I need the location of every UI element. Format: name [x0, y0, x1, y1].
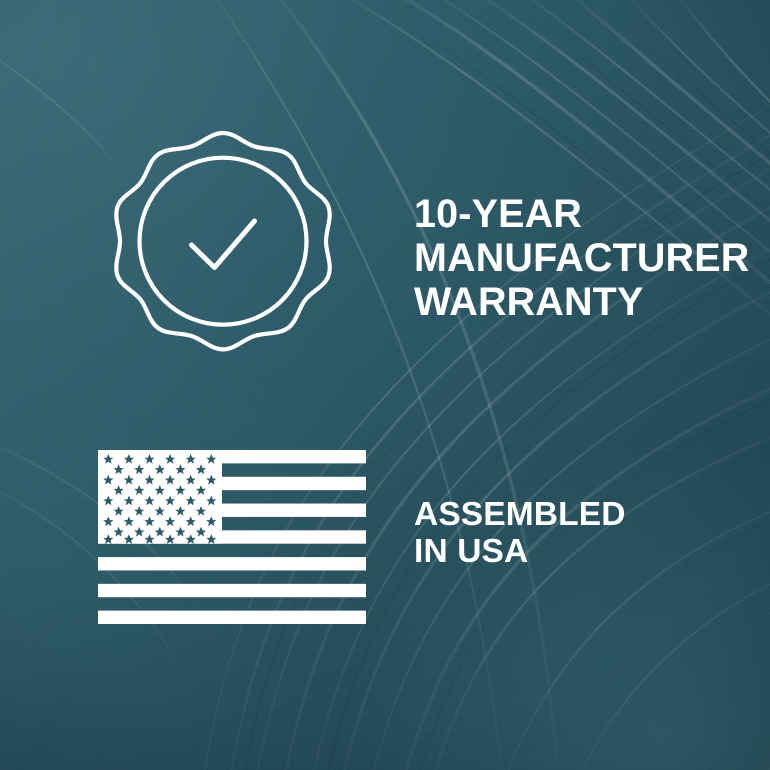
background-grain	[0, 0, 770, 770]
background-vignette	[0, 0, 770, 770]
background-sheen	[0, 0, 770, 770]
badge-scallop-outline	[116, 133, 329, 349]
badge-seal-svg	[98, 128, 348, 378]
background-base	[0, 0, 770, 770]
assembled-line-1: ASSEMBLED	[414, 496, 714, 533]
background-fabric-arcs	[0, 0, 770, 770]
background-weave-texture	[0, 0, 770, 770]
usa-flag-icon	[98, 450, 366, 624]
warranty-line-3: WARRANTY	[414, 280, 732, 324]
assembled-line-2: IN USA	[414, 533, 714, 570]
badge-checkmark	[192, 221, 255, 268]
warranty-line-1: 10-YEAR	[414, 192, 732, 236]
feature-badge-panel: 10-YEAR MANUFACTURER WARRANTY	[0, 0, 770, 770]
assembled-text-block: ASSEMBLED IN USA	[414, 496, 714, 571]
warranty-line-2: MANUFACTURER	[414, 236, 732, 280]
warranty-text-block: 10-YEAR MANUFACTURER WARRANTY	[414, 192, 732, 324]
badge-inner-circle	[140, 158, 307, 325]
usa-flag-svg	[98, 450, 366, 624]
fabric-crease-arcs-svg	[0, 0, 770, 770]
verified-badge-check-icon	[98, 128, 348, 378]
